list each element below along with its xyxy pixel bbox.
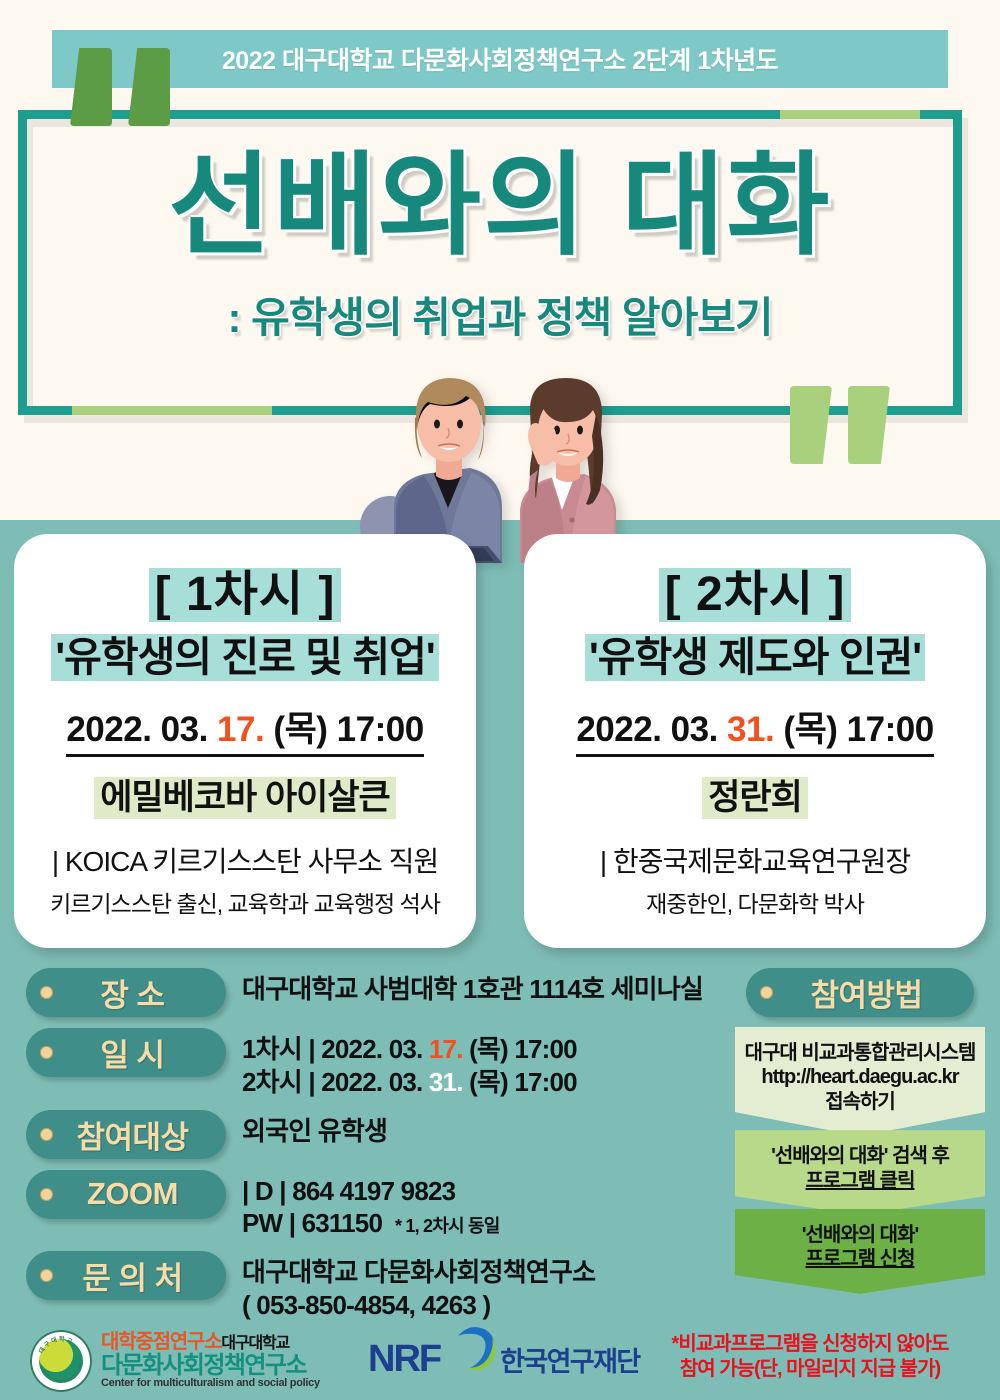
page-title: 선배와의 대화 [0,150,1000,262]
info-label-zoom: ZOOM [26,1170,226,1219]
participation-step-1: 대구대 비교과통합관리시스템 http://heart.daegu.ac.kr … [735,1027,985,1136]
session-number: [ 2차시 ] [659,568,852,622]
poster-root: 2022 대구대학교 다문화사회정책연구소 2단계 1차년도 선배와의 대화 :… [0,0,1000,1400]
nrf-logo: NRF 한국연구재단 [368,1338,640,1381]
frame-accent-bottom [72,406,272,415]
two-people-illustration [352,358,622,563]
session-datetime: 2022. 03. 31. (목) 17:00 [576,701,933,757]
session-card-2: [ 2차시 ] '유학생 제도와 인권' 2022. 03. 31. (목) 1… [524,534,986,948]
nrf-name: 한국연구재단 [500,1340,639,1379]
info-value-datetime: 1차시 | 2022. 03. 17. (목) 17:00 2차시 | 2022… [242,1028,577,1099]
info-label-contact: 문 의 처 [26,1251,226,1300]
zoom-id-line: | D | 864 4197 9823 [242,1175,499,1208]
session-topic: '유학생 제도와 인권' [585,634,925,681]
session-speaker-name: 에밀베코바 아이살큰 [94,777,396,819]
session-speaker-role: | 한중국제문화교육연구원장 [600,840,910,880]
university-seal-icon: 대 구 대 학 교 DAEGU UNIVERSITY 1956 [30,1330,92,1392]
info-label-datetime: 일 시 [26,1028,226,1077]
session-datetime: 2022. 03. 17. (목) 17:00 [66,701,423,757]
info-value-place: 대구대학교 사범대학 1호관 1114호 세미나실 [242,968,703,1006]
info-row-zoom: ZOOM | D | 864 4197 9823 PW | 631150 * 1… [26,1170,726,1241]
session-number: [ 1차시 ] [149,568,342,622]
nrf-mark: NRF [368,1338,440,1381]
info-value-zoom: | D | 864 4197 9823 PW | 631150 * 1, 2차시… [242,1170,499,1241]
participation-step-2: '선배와의 대화' 검색 후 프로그램 클릭 [735,1130,985,1215]
svg-text:대 구 대 학 교: 대 구 대 학 교 [37,1335,74,1355]
bullet-icon [40,986,53,999]
info-row-place: 장 소 대구대학교 사범대학 1호관 1114호 세미나실 [26,968,726,1017]
footer-note: *비교과프로그램을 신청하지 않아도 참여 가능(단, 마일리지 지급 불가) [636,1332,984,1382]
bullet-icon [40,1188,53,1201]
footer: 대 구 대 학 교 DAEGU UNIVERSITY 1956 대학중점연구소대… [0,1326,1000,1400]
bullet-icon [40,1046,53,1059]
info-value-contact: 대구대학교 다문화사회정책연구소 ( 053-850-4854, 4263 ) [242,1251,595,1322]
info-value-audience: 외국인 유학생 [242,1110,387,1148]
participation-step-3: '선배와의 대화' 프로그램 신청 [735,1209,985,1294]
participation-method-block: 참여방법 대구대 비교과통합관리시스템 http://heart.daegu.a… [735,968,985,1294]
zoom-pw-line: PW | 631150 * 1, 2차시 동일 [242,1207,499,1240]
info-row-contact: 문 의 처 대구대학교 다문화사회정책연구소 ( 053-850-4854, 4… [26,1251,726,1322]
daegu-university-logo: 대 구 대 학 교 DAEGU UNIVERSITY 1956 대학중점연구소대… [30,1330,320,1392]
banner-text: 2022 대구대학교 다문화사회정책연구소 2단계 1차년도 [52,30,948,88]
session-speaker-bio: 재중한인, 다문화학 박사 [646,885,864,919]
session-speaker-bio: 키르기스스탄 출신, 교육학과 교육행정 석사 [50,885,440,919]
quote-close-icon [790,386,906,468]
info-row-audience: 참여대상 외국인 유학생 [26,1110,726,1159]
page-subtitle: : 유학생의 취업과 정책 알아보기 [0,284,1000,345]
title-block: 선배와의 대화 : 유학생의 취업과 정책 알아보기 [0,150,1000,345]
session-topic: '유학생의 진로 및 취업' [51,634,438,681]
bullet-icon [40,1269,53,1282]
bullet-icon [760,986,773,999]
info-row-datetime: 일 시 1차시 | 2022. 03. 17. (목) 17:00 2차시 | … [26,1028,726,1099]
svg-text:DAEGU UNIVERSITY 1956: DAEGU UNIVERSITY 1956 [38,1361,85,1385]
info-list: 장 소 대구대학교 사범대학 1호관 1114호 세미나실 일 시 1차시 | … [26,968,726,1333]
participation-label: 참여방법 [746,968,974,1017]
frame-accent-top [780,110,920,119]
nrf-swoosh-icon [448,1322,500,1374]
session-speaker-role: | KOICA 키르기스스탄 사무소 직원 [52,840,438,880]
info-label-audience: 참여대상 [26,1110,226,1159]
session-card-1: [ 1차시 ] '유학생의 진로 및 취업' 2022. 03. 17. (목)… [14,534,476,948]
info-label-place: 장 소 [26,968,226,1017]
session-speaker-name: 정란희 [702,777,808,819]
bullet-icon [40,1128,53,1141]
